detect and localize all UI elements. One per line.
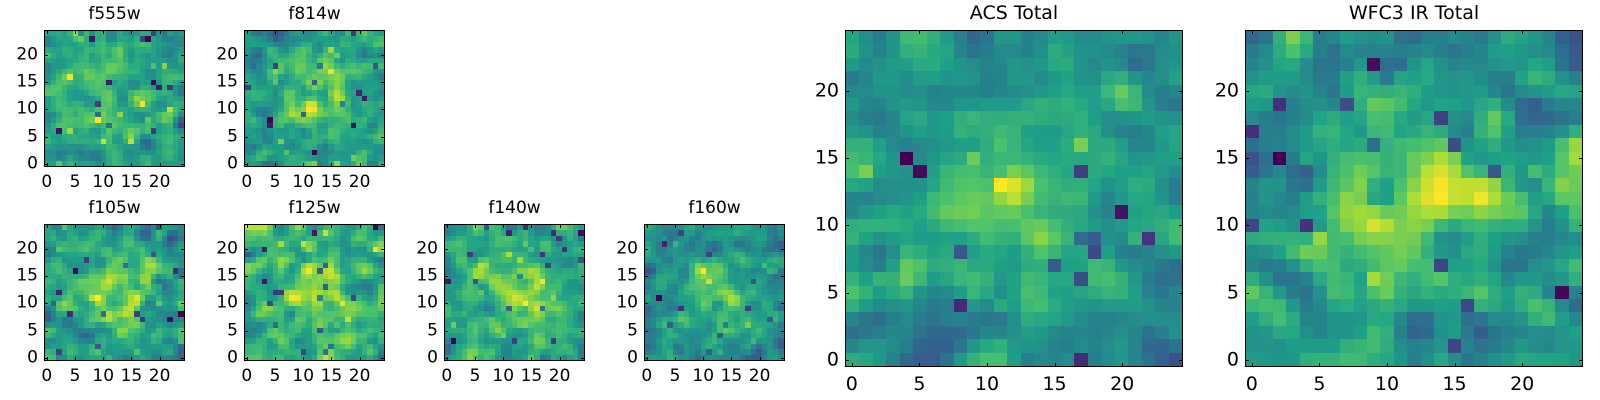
heatmap-cell bbox=[1128, 58, 1141, 71]
heatmap-cell bbox=[1142, 178, 1155, 191]
heatmap-cell bbox=[954, 85, 967, 98]
heatmap-f140w[interactable] bbox=[444, 224, 585, 361]
x-axis-tick bbox=[247, 224, 248, 228]
x-axis-tick bbox=[731, 357, 732, 361]
heatmap-grid bbox=[846, 31, 1182, 366]
x-axis-tick bbox=[360, 30, 361, 34]
heatmap-cell bbox=[1434, 178, 1447, 191]
x-axis-tick bbox=[303, 357, 304, 361]
heatmap-cell bbox=[967, 339, 980, 352]
y-axis-tick bbox=[644, 303, 648, 304]
heatmap-cell bbox=[1407, 58, 1420, 71]
heatmap-cell bbox=[859, 192, 872, 205]
x-axis-tick bbox=[47, 224, 48, 228]
heatmap-cell bbox=[1327, 31, 1340, 44]
heatmap-cell bbox=[1461, 165, 1474, 178]
heatmap-cell bbox=[1007, 245, 1020, 258]
heatmap-cell bbox=[1034, 152, 1047, 165]
x-axis-tick-label: 15 bbox=[121, 174, 143, 191]
heatmap-cell bbox=[859, 219, 872, 232]
x-axis-tick bbox=[852, 363, 853, 367]
heatmap-cell bbox=[1088, 178, 1101, 191]
heatmap-cell bbox=[954, 192, 967, 205]
heatmap-cell bbox=[886, 339, 899, 352]
heatmap-cell bbox=[1155, 339, 1168, 352]
y-axis-tick bbox=[781, 276, 785, 277]
heatmap-cell bbox=[994, 219, 1007, 232]
x-axis-tick-label: 5 bbox=[70, 174, 81, 191]
heatmap-cell bbox=[1421, 44, 1434, 57]
x-axis-tick-label: 10 bbox=[292, 174, 314, 191]
heatmap-cell bbox=[1088, 259, 1101, 272]
y-axis-tick bbox=[44, 82, 48, 83]
heatmap-cell bbox=[1021, 111, 1034, 124]
heatmap-cell bbox=[1034, 165, 1047, 178]
heatmap-cell bbox=[1300, 71, 1313, 84]
heatmap-cell bbox=[954, 138, 967, 151]
heatmap-cell bbox=[1101, 58, 1114, 71]
heatmap-cell bbox=[1501, 125, 1514, 138]
heatmap-cell bbox=[1061, 272, 1074, 285]
heatmap-cell bbox=[1007, 71, 1020, 84]
heatmap-cell bbox=[1448, 138, 1461, 151]
heatmap-cell bbox=[980, 125, 993, 138]
heatmap-cell bbox=[980, 219, 993, 232]
heatmap-cell bbox=[859, 152, 872, 165]
heatmap-cell bbox=[940, 272, 953, 285]
heatmap-cell bbox=[900, 339, 913, 352]
heatmap-cell bbox=[967, 259, 980, 272]
heatmap-cell bbox=[1074, 58, 1087, 71]
heatmap-cell bbox=[1101, 219, 1114, 232]
heatmap-cell bbox=[1434, 219, 1447, 232]
heatmap-cell bbox=[1327, 219, 1340, 232]
heatmap-f814w[interactable] bbox=[244, 30, 385, 167]
heatmap-cell bbox=[1115, 71, 1128, 84]
heatmap-cell bbox=[1074, 138, 1087, 151]
heatmap-cell bbox=[1048, 219, 1061, 232]
heatmap-cell bbox=[1074, 353, 1087, 366]
y-axis-tick bbox=[181, 82, 185, 83]
heatmap-cell bbox=[900, 44, 913, 57]
heatmap-cell bbox=[1394, 44, 1407, 57]
heatmap-cell bbox=[886, 178, 899, 191]
heatmap-cell bbox=[1273, 98, 1286, 111]
heatmap-cell bbox=[846, 125, 859, 138]
heatmap-cell bbox=[1128, 272, 1141, 285]
y-axis-tick-label: 15 bbox=[398, 268, 438, 285]
heatmap-cell bbox=[980, 44, 993, 57]
heatmap-cell bbox=[940, 286, 953, 299]
heatmap-cell bbox=[1074, 31, 1087, 44]
heatmap-cell bbox=[1367, 58, 1380, 71]
heatmap-cell bbox=[980, 339, 993, 352]
heatmap-cell bbox=[1034, 44, 1047, 57]
heatmap-acs-total[interactable] bbox=[845, 30, 1183, 367]
heatmap-cell bbox=[1007, 312, 1020, 325]
heatmap-f160w[interactable] bbox=[644, 224, 785, 361]
heatmap-cell bbox=[873, 165, 886, 178]
heatmap-cell bbox=[1034, 192, 1047, 205]
heatmap-cell bbox=[1034, 58, 1047, 71]
heatmap-cell bbox=[1155, 326, 1168, 339]
heatmap-cell bbox=[1300, 44, 1313, 57]
heatmap-cell bbox=[1115, 286, 1128, 299]
y-axis-tick-label: 10 bbox=[799, 216, 839, 235]
heatmap-cell bbox=[1327, 44, 1340, 57]
heatmap-cell bbox=[927, 339, 940, 352]
heatmap-cell bbox=[1273, 138, 1286, 151]
heatmap-cell bbox=[927, 58, 940, 71]
heatmap-cell bbox=[900, 85, 913, 98]
heatmap-cell bbox=[1407, 205, 1420, 218]
heatmap-cell bbox=[980, 85, 993, 98]
heatmap-cell bbox=[1286, 152, 1299, 165]
heatmap-cell bbox=[954, 165, 967, 178]
x-axis-tick-label: 15 bbox=[321, 174, 343, 191]
heatmap-cell bbox=[1259, 152, 1272, 165]
heatmap-cell bbox=[1101, 138, 1114, 151]
heatmap-cell bbox=[1569, 178, 1582, 191]
heatmap-cell bbox=[1273, 44, 1286, 57]
heatmap-cell bbox=[1088, 245, 1101, 258]
heatmap-cell bbox=[1128, 31, 1141, 44]
heatmap-cell bbox=[1101, 152, 1114, 165]
heatmap-cell bbox=[1528, 125, 1541, 138]
heatmap-cell bbox=[1034, 272, 1047, 285]
heatmap-cell bbox=[1380, 219, 1393, 232]
heatmap-cell bbox=[967, 44, 980, 57]
heatmap-cell bbox=[980, 205, 993, 218]
heatmap-f555w[interactable] bbox=[44, 30, 185, 167]
heatmap-cell bbox=[1259, 165, 1272, 178]
y-axis-tick bbox=[181, 276, 185, 277]
heatmap-cell bbox=[1313, 111, 1326, 124]
heatmap-cell bbox=[1474, 111, 1487, 124]
heatmap-cell bbox=[1074, 299, 1087, 312]
heatmap-cell bbox=[980, 58, 993, 71]
y-axis-tick bbox=[781, 249, 785, 250]
heatmap-cell bbox=[1061, 353, 1074, 366]
heatmap-cell bbox=[1115, 299, 1128, 312]
x-axis-tick-label: 10 bbox=[492, 368, 514, 385]
heatmap-cell bbox=[967, 232, 980, 245]
heatmap-cell bbox=[859, 58, 872, 71]
x-axis-tick bbox=[531, 357, 532, 361]
heatmap-cell bbox=[1061, 58, 1074, 71]
heatmap-cell bbox=[900, 205, 913, 218]
heatmap-cell bbox=[927, 138, 940, 151]
heatmap-cell bbox=[1327, 205, 1340, 218]
heatmap-cell bbox=[1155, 299, 1168, 312]
heatmap-cell bbox=[1313, 125, 1326, 138]
heatmap-cell bbox=[967, 85, 980, 98]
heatmap-cell bbox=[1327, 152, 1340, 165]
heatmap-cell bbox=[1259, 138, 1272, 151]
heatmap-cell bbox=[940, 219, 953, 232]
heatmap-cell bbox=[1074, 326, 1087, 339]
heatmap-cell bbox=[1061, 312, 1074, 325]
heatmap-cell bbox=[927, 98, 940, 111]
heatmap-cell bbox=[1367, 44, 1380, 57]
heatmap-cell bbox=[1115, 272, 1128, 285]
heatmap-cell bbox=[873, 259, 886, 272]
heatmap-cell bbox=[927, 71, 940, 84]
heatmap-cell bbox=[873, 71, 886, 84]
heatmap-cell bbox=[994, 98, 1007, 111]
panel-f140w: f140w 0510152005101520 bbox=[444, 224, 585, 361]
heatmap-cell bbox=[1169, 299, 1182, 312]
heatmap-cell bbox=[1394, 165, 1407, 178]
heatmap-grid bbox=[245, 225, 384, 360]
heatmap-cell bbox=[1380, 125, 1393, 138]
x-axis-tick bbox=[475, 224, 476, 228]
heatmap-cell bbox=[900, 125, 913, 138]
heatmap-cell bbox=[1048, 205, 1061, 218]
x-axis-tick-label: 20 bbox=[349, 174, 371, 191]
heatmap-cell bbox=[1048, 326, 1061, 339]
x-axis-tick-label: 5 bbox=[270, 174, 281, 191]
heatmap-cell bbox=[1021, 219, 1034, 232]
heatmap-cell bbox=[1061, 125, 1074, 138]
heatmap-cell bbox=[1421, 178, 1434, 191]
x-axis-tick bbox=[275, 163, 276, 167]
heatmap-cell bbox=[873, 125, 886, 138]
heatmap-cell bbox=[1542, 219, 1555, 232]
heatmap-cell bbox=[886, 353, 899, 366]
y-axis-tick-label: 15 bbox=[198, 268, 238, 285]
heatmap-cell bbox=[1088, 339, 1101, 352]
heatmap-cell bbox=[1380, 205, 1393, 218]
heatmap-cell bbox=[846, 58, 859, 71]
heatmap-cell bbox=[1474, 44, 1487, 57]
heatmap-cell bbox=[1286, 58, 1299, 71]
y-axis-tick bbox=[244, 55, 248, 56]
heatmap-cell bbox=[1061, 44, 1074, 57]
heatmap-cell bbox=[1488, 71, 1501, 84]
heatmap-cell bbox=[1128, 138, 1141, 151]
heatmap-cell bbox=[1354, 111, 1367, 124]
heatmap-cell bbox=[994, 165, 1007, 178]
heatmap-cell bbox=[1101, 71, 1114, 84]
panel-title-f814w: f814w bbox=[244, 6, 385, 23]
heatmap-cell bbox=[1380, 138, 1393, 151]
heatmap-cell bbox=[1300, 205, 1313, 218]
heatmap-cell bbox=[1555, 31, 1568, 44]
heatmap-cell bbox=[1488, 192, 1501, 205]
y-axis-tick bbox=[644, 276, 648, 277]
y-axis-tick bbox=[381, 276, 385, 277]
heatmap-cell bbox=[1542, 152, 1555, 165]
heatmap-cell bbox=[1142, 138, 1155, 151]
heatmap-cell bbox=[1555, 85, 1568, 98]
heatmap-cell bbox=[1155, 245, 1168, 258]
heatmap-f125w[interactable] bbox=[244, 224, 385, 361]
heatmap-cell bbox=[1246, 111, 1259, 124]
heatmap-cell bbox=[1340, 44, 1353, 57]
heatmap-cell bbox=[846, 312, 859, 325]
heatmap-cell bbox=[900, 312, 913, 325]
heatmap-cell bbox=[900, 178, 913, 191]
panel-title-f160w: f160w bbox=[644, 200, 785, 217]
heatmap-cell bbox=[954, 245, 967, 258]
heatmap-cell bbox=[846, 138, 859, 151]
heatmap-cell bbox=[927, 272, 940, 285]
heatmap-cell bbox=[980, 178, 993, 191]
heatmap-cell bbox=[1048, 85, 1061, 98]
heatmap-cell bbox=[900, 232, 913, 245]
heatmap-cell bbox=[1142, 98, 1155, 111]
heatmap-cell bbox=[994, 111, 1007, 124]
heatmap-cell bbox=[954, 98, 967, 111]
heatmap-cell bbox=[954, 259, 967, 272]
heatmap-cell bbox=[900, 326, 913, 339]
heatmap-cell bbox=[1461, 98, 1474, 111]
heatmap-cell bbox=[1515, 111, 1528, 124]
x-axis-tick bbox=[987, 30, 988, 34]
heatmap-cell bbox=[1101, 125, 1114, 138]
heatmap-cell bbox=[1088, 326, 1101, 339]
heatmap-cell bbox=[980, 98, 993, 111]
heatmap-cell bbox=[927, 205, 940, 218]
heatmap-cell bbox=[1021, 98, 1034, 111]
panel-title-f555w: f555w bbox=[44, 6, 185, 23]
y-axis-tick bbox=[181, 303, 185, 304]
heatmap-cell bbox=[940, 259, 953, 272]
x-axis-tick bbox=[103, 30, 104, 34]
x-axis-tick bbox=[160, 30, 161, 34]
y-axis-tick bbox=[244, 331, 248, 332]
heatmap-cell bbox=[900, 219, 913, 232]
heatmap-cell bbox=[1434, 138, 1447, 151]
heatmap-cell bbox=[1007, 111, 1020, 124]
heatmap-cell bbox=[1407, 85, 1420, 98]
heatmap-cell bbox=[1074, 339, 1087, 352]
heatmap-wfc3-ir-total[interactable] bbox=[1245, 30, 1583, 367]
heatmap-cell bbox=[1286, 98, 1299, 111]
heatmap-cell bbox=[1488, 58, 1501, 71]
heatmap-cell bbox=[994, 85, 1007, 98]
x-axis-tick-label: 0 bbox=[846, 375, 858, 394]
x-axis-tick bbox=[703, 357, 704, 361]
heatmap-cell bbox=[1367, 165, 1380, 178]
heatmap-cell bbox=[1169, 192, 1182, 205]
heatmap-cell bbox=[900, 353, 913, 366]
heatmap-cell bbox=[1246, 71, 1259, 84]
y-axis-tick bbox=[845, 91, 849, 92]
heatmap-cell bbox=[1340, 31, 1353, 44]
heatmap-cell bbox=[1354, 192, 1367, 205]
heatmap-cell bbox=[1474, 31, 1487, 44]
heatmap-cell bbox=[940, 152, 953, 165]
heatmap-cell bbox=[1088, 111, 1101, 124]
heatmap-cell bbox=[913, 165, 926, 178]
heatmap-cell bbox=[980, 245, 993, 258]
heatmap-cell bbox=[1115, 232, 1128, 245]
x-axis-tick bbox=[560, 357, 561, 361]
heatmap-cell bbox=[1155, 31, 1168, 44]
x-axis-tick-label: 10 bbox=[92, 368, 114, 385]
heatmap-cell bbox=[1515, 138, 1528, 151]
heatmap-cell bbox=[1542, 98, 1555, 111]
heatmap-cell bbox=[1155, 98, 1168, 111]
heatmap-cell bbox=[1555, 71, 1568, 84]
y-axis-tick bbox=[845, 225, 849, 226]
heatmap-cell bbox=[1394, 31, 1407, 44]
heatmap-cell bbox=[1501, 111, 1514, 124]
heatmap-cell bbox=[1128, 165, 1141, 178]
heatmap-cell bbox=[886, 299, 899, 312]
heatmap-cell bbox=[1273, 219, 1286, 232]
heatmap-cell bbox=[1421, 58, 1434, 71]
heatmap-cell bbox=[1128, 111, 1141, 124]
heatmap-cell bbox=[1488, 219, 1501, 232]
heatmap-cell bbox=[886, 71, 899, 84]
heatmap-cell bbox=[1155, 85, 1168, 98]
heatmap-cell bbox=[1128, 85, 1141, 98]
heatmap-cell bbox=[1259, 125, 1272, 138]
y-axis-tick bbox=[381, 358, 385, 359]
heatmap-cell bbox=[1155, 286, 1168, 299]
heatmap-cell bbox=[1142, 232, 1155, 245]
y-axis-tick bbox=[244, 249, 248, 250]
heatmap-cell bbox=[859, 178, 872, 191]
heatmap-cell bbox=[1273, 192, 1286, 205]
heatmap-cell bbox=[1528, 71, 1541, 84]
heatmap-cell bbox=[1155, 165, 1168, 178]
heatmap-cell bbox=[1407, 165, 1420, 178]
heatmap-cell bbox=[954, 219, 967, 232]
heatmap-cell bbox=[1074, 259, 1087, 272]
heatmap-cell bbox=[1061, 326, 1074, 339]
heatmap-cell bbox=[1048, 259, 1061, 272]
heatmap-cell bbox=[1142, 326, 1155, 339]
heatmap-cell bbox=[1007, 178, 1020, 191]
heatmap-cell bbox=[1300, 98, 1313, 111]
heatmap-cell bbox=[1448, 58, 1461, 71]
y-axis-tick bbox=[244, 276, 248, 277]
heatmap-cell bbox=[1394, 192, 1407, 205]
heatmap-cell bbox=[913, 286, 926, 299]
heatmap-cell bbox=[1407, 125, 1420, 138]
x-axis-tick bbox=[703, 224, 704, 228]
heatmap-cell bbox=[1155, 111, 1168, 124]
heatmap-cell bbox=[1394, 111, 1407, 124]
heatmap-cell bbox=[1380, 111, 1393, 124]
heatmap-cell bbox=[1021, 326, 1034, 339]
heatmap-cell bbox=[1101, 165, 1114, 178]
heatmap-cell bbox=[1048, 192, 1061, 205]
y-axis-tick bbox=[444, 358, 448, 359]
heatmap-cell bbox=[927, 111, 940, 124]
heatmap-cell bbox=[1115, 205, 1128, 218]
heatmap-cell bbox=[1448, 165, 1461, 178]
heatmap-cell bbox=[1461, 58, 1474, 71]
heatmap-cell bbox=[994, 58, 1007, 71]
heatmap-cell bbox=[1101, 339, 1114, 352]
heatmap-cell bbox=[927, 232, 940, 245]
heatmap-cell bbox=[1088, 272, 1101, 285]
heatmap-cell bbox=[1488, 138, 1501, 151]
heatmap-f105w[interactable] bbox=[44, 224, 185, 361]
x-axis-tick-label: 15 bbox=[521, 368, 543, 385]
heatmap-cell bbox=[873, 98, 886, 111]
heatmap-cell bbox=[913, 219, 926, 232]
heatmap-cell bbox=[913, 138, 926, 151]
heatmap-cell bbox=[886, 58, 899, 71]
heatmap-cell bbox=[873, 111, 886, 124]
heatmap-cell bbox=[980, 111, 993, 124]
